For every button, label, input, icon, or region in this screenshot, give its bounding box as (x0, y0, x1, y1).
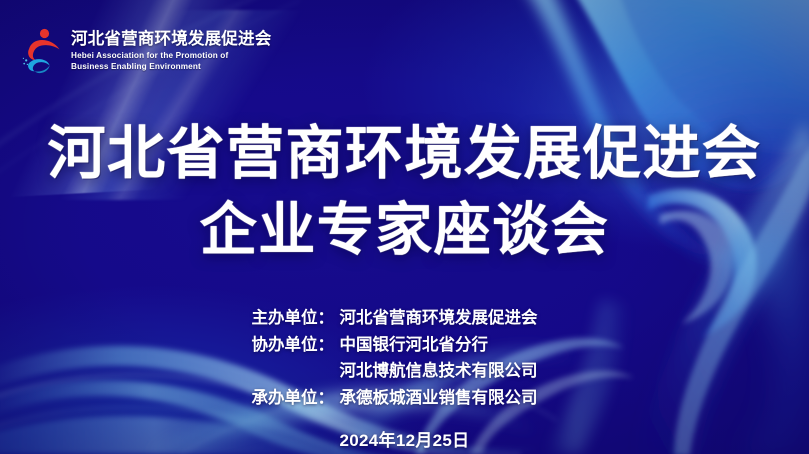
logo-chinese-name: 河北省营商环境发展促进会 (71, 31, 271, 48)
hebei-association-emblem-icon (22, 27, 64, 75)
logo-english-line-1: Hebei Association for the Promotion of (71, 51, 236, 62)
organizer-label-organizer: 承办单位： (252, 390, 340, 407)
organizer-value-host: 河北省营商环境发展促进会 (340, 310, 558, 327)
organizer-value-cohost-1: 中国银行河北省分行 (340, 337, 558, 354)
title-line-1: 河北省营商环境发展促进会 (0, 122, 809, 187)
logo-wordmark: 河北省营商环境发展促进会 Hebei Association for the P… (71, 26, 271, 73)
title-line-2: 企业专家座谈会 (0, 199, 809, 263)
organizer-list: 主办单位： 河北省营商环境发展促进会 协办单位： 中国银行河北省分行 河北博航信… (0, 310, 809, 416)
organizer-value-cohost-2: 河北博航信息技术有限公司 (340, 363, 558, 380)
organizer-row-organizer: 承办单位： 承德板城酒业销售有限公司 (252, 390, 558, 407)
event-banner-poster: 河北省营商环境发展促进会 Hebei Association for the P… (0, 0, 809, 454)
organizer-label-cohost: 协办单位： (252, 337, 340, 354)
organizer-row-cohost-2: 河北博航信息技术有限公司 (252, 363, 558, 380)
organizer-value-organizer: 承德板城酒业销售有限公司 (340, 390, 558, 407)
page-title: 河北省营商环境发展促进会 企业专家座谈会 (0, 122, 809, 263)
organizer-label-host: 主办单位： (252, 310, 340, 327)
organizer-label-cohost-continued (252, 363, 340, 380)
logo-english-line-2: Business Enabling Environment (71, 62, 236, 73)
organizer-row-host: 主办单位： 河北省营商环境发展促进会 (252, 310, 558, 327)
association-logo: 河北省营商环境发展促进会 Hebei Association for the P… (22, 26, 271, 75)
event-date: 2024年12月25日 (0, 426, 809, 451)
logo-english-name: Hebei Association for the Promotion of B… (71, 51, 236, 73)
organizer-row-cohost-1: 协办单位： 中国银行河北省分行 (252, 337, 558, 354)
